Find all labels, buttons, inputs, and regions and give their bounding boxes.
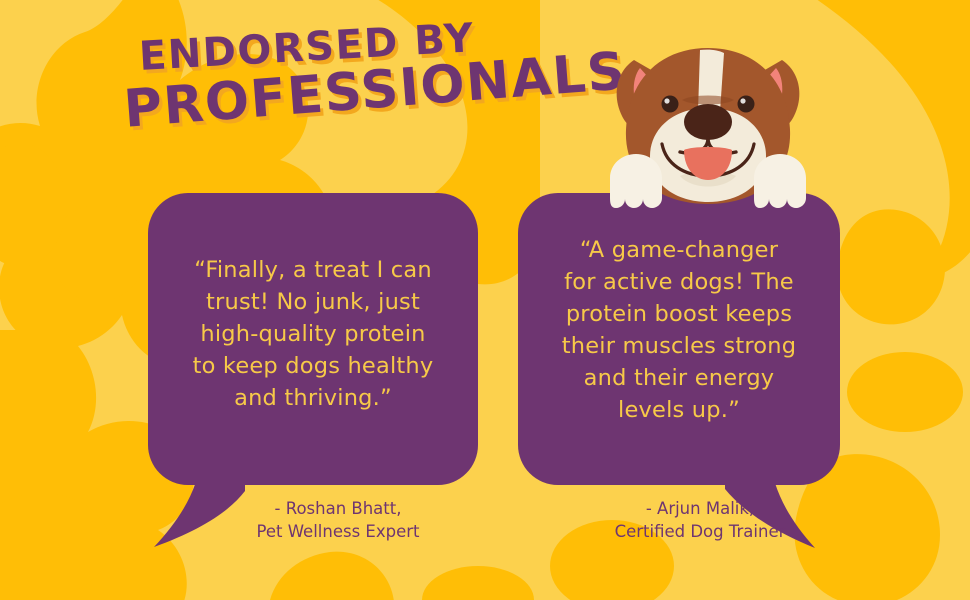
testimonial-attribution-2: - Arjun Malik, Certified Dog Trainer — [540, 498, 860, 544]
testimonial-poster: Endorsed By Professionals “Finally, a tr… — [0, 0, 970, 600]
testimonial-card-1: “Finally, a treat I can trust! No junk, … — [148, 193, 478, 485]
testimonial-quote-2: “A game-changer for active dogs! The pro… — [518, 235, 840, 427]
testimonial-attribution-1: - Roshan Bhatt, Pet Wellness Expert — [178, 498, 498, 544]
testimonial-card-2: “A game-changer for active dogs! The pro… — [518, 193, 840, 485]
testimonial-quote-1: “Finally, a treat I can trust! No junk, … — [148, 255, 478, 415]
page-title: Endorsed By Professionals — [120, 16, 526, 163]
